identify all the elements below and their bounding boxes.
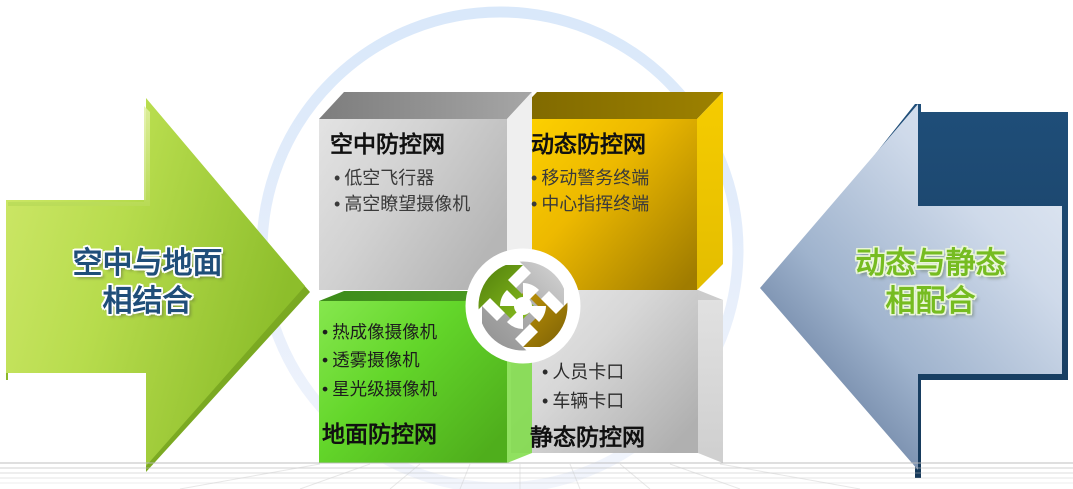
diagram-canvas: 空中与地面 相结合 动态与静态 相配合	[0, 0, 1073, 489]
reflection-floor	[0, 0, 1073, 489]
